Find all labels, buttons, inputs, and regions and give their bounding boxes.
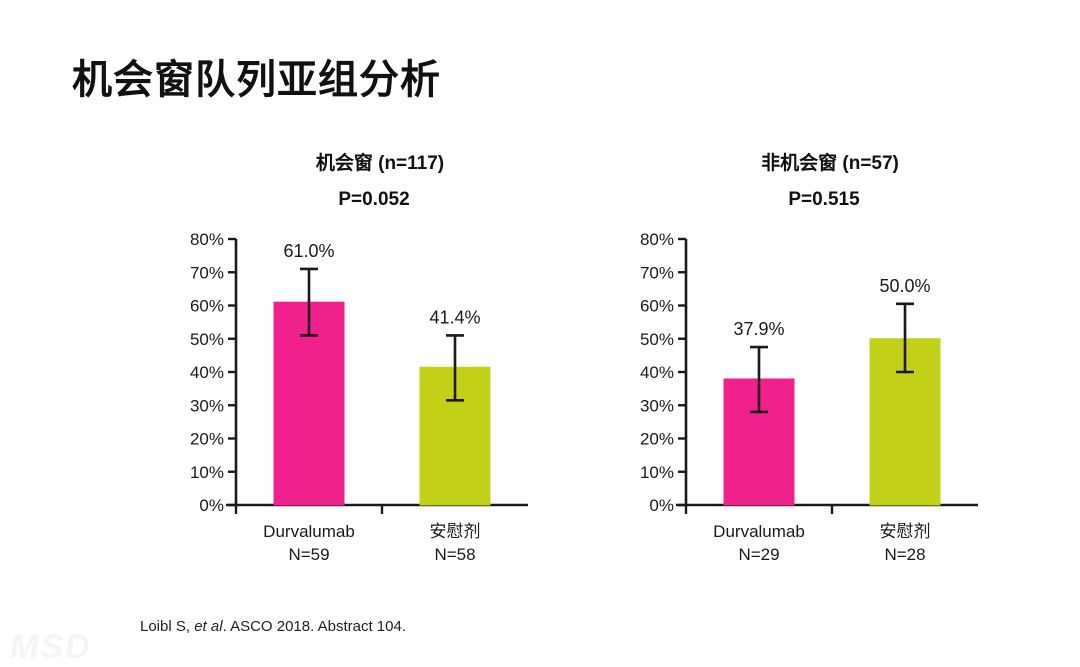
- chart-pvalue-left: P=0.052: [198, 189, 550, 211]
- y-axis-tick-label: 50%: [190, 330, 224, 349]
- citation-et-al: et al: [194, 618, 222, 635]
- y-axis-tick-label: 70%: [190, 263, 224, 282]
- x-axis-category-sublabel: N=58: [434, 545, 475, 564]
- chart-pvalue-right: P=0.515: [648, 189, 1000, 211]
- citation-suffix: . ASCO 2018. Abstract 104.: [223, 618, 406, 635]
- y-axis-tick-label: 20%: [190, 430, 224, 449]
- bar-value-label: 61.0%: [283, 241, 334, 261]
- y-axis-tick-label: 0%: [199, 496, 224, 515]
- citation-prefix: Loibl S,: [140, 618, 194, 635]
- x-axis-category-label: Durvalumab: [263, 522, 355, 541]
- bar-value-label: 41.4%: [429, 307, 480, 327]
- x-axis-category-sublabel: N=29: [738, 545, 779, 564]
- y-axis-tick-label: 10%: [640, 463, 674, 482]
- y-axis-tick-label: 0%: [649, 496, 674, 515]
- x-axis-category-sublabel: N=28: [884, 545, 925, 564]
- bar-chart-left: 80%70%60%50%40%30%20%10%0%61.0%Durvaluma…: [170, 225, 550, 565]
- plot-area-right: 80%70%60%50%40%30%20%10%0%37.9%Durvaluma…: [620, 225, 1000, 565]
- citation: Loibl S, et al. ASCO 2018. Abstract 104.: [140, 618, 406, 635]
- y-axis-tick-label: 40%: [190, 363, 224, 382]
- y-axis-tick-label: 50%: [640, 330, 674, 349]
- y-axis-tick-label: 10%: [190, 463, 224, 482]
- chart-panel-opportunity-window: 机会窗 (n=117) P=0.052 80%70%60%50%40%30%20…: [170, 148, 550, 565]
- y-axis-tick-label: 30%: [640, 396, 674, 415]
- bar-chart-right: 80%70%60%50%40%30%20%10%0%37.9%Durvaluma…: [620, 225, 1000, 565]
- y-axis-tick-label: 80%: [190, 230, 224, 249]
- bar-value-label: 37.9%: [733, 319, 784, 339]
- x-axis-category-label: 安慰剂: [880, 522, 931, 541]
- chart-title-left: 机会窗 (n=117): [210, 148, 550, 175]
- y-axis-tick-label: 60%: [190, 297, 224, 316]
- bar-value-label: 50.0%: [879, 276, 930, 296]
- y-axis-tick-label: 40%: [640, 363, 674, 382]
- chart-title-right: 非机会窗 (n=57): [660, 148, 1000, 175]
- plot-area-left: 80%70%60%50%40%30%20%10%0%61.0%Durvaluma…: [170, 225, 550, 565]
- y-axis-tick-label: 80%: [640, 230, 674, 249]
- page-title: 机会窗队列亚组分析: [72, 47, 441, 105]
- y-axis-tick-label: 70%: [640, 263, 674, 282]
- x-axis-category-label: 安慰剂: [430, 522, 481, 541]
- x-axis-category-label: Durvalumab: [713, 522, 805, 541]
- y-axis-tick-label: 20%: [640, 430, 674, 449]
- chart-panel-non-opportunity-window: 非机会窗 (n=57) P=0.515 80%70%60%50%40%30%20…: [620, 148, 1000, 565]
- x-axis-category-sublabel: N=59: [288, 545, 329, 564]
- y-axis-tick-label: 30%: [190, 396, 224, 415]
- y-axis-tick-label: 60%: [640, 297, 674, 316]
